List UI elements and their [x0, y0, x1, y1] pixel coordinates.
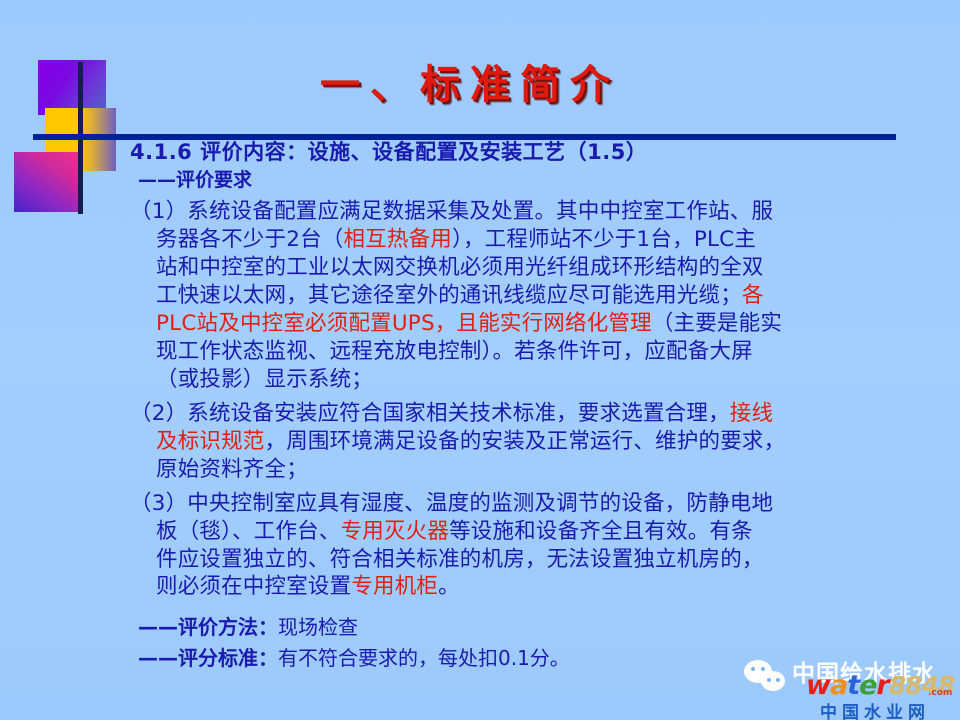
wechat-dot-1: [751, 667, 755, 671]
item1-line4-a: 工快速以太网，其它途径室外的通讯线缆应尽可能选用光缆；: [156, 283, 742, 308]
scoring-standard-value: 有不符合要求的，每处扣0.1分。: [278, 646, 570, 670]
watermark-letter-r: r: [876, 670, 888, 701]
decorative-square-magenta: [14, 152, 82, 212]
item2-line2-b: ，周围环境满足设备的安装及正常运行、维护的要求，: [265, 429, 786, 454]
list-item: （1）系统设备配置应满足数据采集及处置。其中中控室工作站、服 务器各不少于2台（…: [130, 198, 930, 394]
item3-line3: 件应设置独立的、符合相关标准的机房，无法设置独立机房的，: [130, 546, 930, 574]
evaluation-method-label: ——评价方法：: [138, 615, 278, 639]
item1-line1-text: （1）系统设备配置应满足数据采集及处置。其中中控室工作站、服: [130, 199, 773, 224]
item1-line5-highlight: PLC站及中控室必须配置UPS，且能实行网络化管理: [156, 311, 652, 336]
list-item: （3）中央控制室应具有湿度、温度的监测及调节的设备，防静电地 板（毯）、工作台、…: [130, 490, 930, 602]
item1-line6: 现工作状态监视、远程充放电控制）。若条件许可，应配备大屏: [130, 338, 930, 366]
evaluation-method-value: 现场检查: [278, 615, 358, 639]
item3-line2-a: 板（毯）、工作台、: [156, 519, 341, 544]
slide-canvas: 一、标准简介 4.1.6 评价内容：设施、设备配置及安装工艺（1.5） ——评价…: [0, 0, 960, 720]
item3-line4-highlight: 专用机柜: [351, 574, 438, 599]
watermark-letter-t: t: [847, 670, 859, 701]
watermark-letter-a: a: [830, 670, 847, 701]
item1-line2-highlight: 相互热备用: [343, 227, 452, 252]
item2-line1-a: （2）系统设备安装应符合国家相关技术标准，要求选置合理，: [130, 401, 730, 426]
item3-line2-highlight: 专用灭火器: [341, 519, 450, 544]
item1-line7-text: （或投影）显示系统；: [156, 367, 373, 392]
item1-line4: 工快速以太网，其它途径室外的通讯线缆应尽可能选用光缆；各: [130, 282, 930, 310]
item2-line2-highlight: 及标识规范: [156, 429, 265, 454]
item2-line1-highlight: 接线: [730, 401, 773, 426]
item1-line3: 站和中控室的工业以太网交换机必须用光纤组成环形结构的全双: [130, 254, 930, 282]
item1-line5-b: （主要是能实: [652, 311, 782, 336]
item1-line2-a: 务器各不少于2台（: [156, 227, 343, 252]
item3-line2: 板（毯）、工作台、专用灭火器等设施和设备齐全且有效。有条: [130, 518, 930, 546]
item3-line2-b: 等设施和设备齐全且有效。有条: [449, 519, 753, 544]
list-item: （2）系统设备安装应符合国家相关技术标准，要求选置合理，接线 及标识规范，周围环…: [130, 400, 930, 484]
wechat-dot-2: [761, 667, 765, 671]
watermark-letter-e: e: [859, 670, 876, 701]
scoring-standard-label: ——评分标准：: [138, 646, 278, 670]
item3-line4-b: 。: [438, 574, 460, 599]
item3-line1-text: （3）中央控制室应具有湿度、温度的监测及调节的设备，防静电地: [130, 491, 773, 516]
evaluation-method-line: ——评价方法：现场检查: [138, 612, 570, 643]
item1-line6-text: 现工作状态监视、远程充放电控制）。若条件许可，应配备大屏: [156, 339, 753, 364]
item3-line1: （3）中央控制室应具有湿度、温度的监测及调节的设备，防静电地: [130, 490, 930, 518]
watermark-tld: .com: [928, 688, 952, 698]
item1-line2: 务器各不少于2台（相互热备用），工程师站不少于1台，PLC主: [130, 226, 930, 254]
wechat-dot-3: [767, 678, 771, 682]
scoring-standard-line: ——评分标准：有不符合要求的，每处扣0.1分。: [138, 643, 570, 674]
item2-line1: （2）系统设备安装应符合国家相关技术标准，要求选置合理，接线: [130, 400, 930, 428]
page-title: 一、标准简介: [320, 52, 620, 110]
item2-line3-text: 原始资料齐全；: [156, 457, 308, 482]
item2-line3: 原始资料齐全；: [130, 456, 930, 484]
item1-line5: PLC站及中控室必须配置UPS，且能实行网络化管理（主要是能实: [130, 310, 930, 338]
section-subheading: ——评价要求: [138, 168, 930, 193]
wechat-bubble-small: [761, 671, 785, 691]
item3-line4-a: 则必须在中控室设置: [156, 574, 351, 599]
watermark-logo: 中国给水排水 water8848 .com 中国水业网: [742, 648, 960, 720]
wechat-icon: [744, 660, 792, 694]
wechat-dot-4: [776, 678, 780, 682]
item1-line3-text: 站和中控室的工业以太网交换机必须用光纤组成环形结构的全双: [156, 255, 764, 280]
item1-line1: （1）系统设备配置应满足数据采集及处置。其中中控室工作站、服: [130, 198, 930, 226]
item1-line2-b: ），工程师站不少于1台，PLC主: [452, 227, 756, 252]
item3-line4: 则必须在中控室设置专用机柜。: [130, 573, 930, 601]
decorative-square-purple: [38, 60, 106, 115]
section-heading: 4.1.6 评价内容：设施、设备配置及安装工艺（1.5）: [130, 140, 930, 166]
footer-block: ——评价方法：现场检查 ——评分标准：有不符合要求的，每处扣0.1分。: [138, 612, 570, 674]
item1-line4-highlight: 各: [742, 283, 764, 308]
item1-line7: （或投影）显示系统；: [130, 366, 930, 394]
slide-content: 4.1.6 评价内容：设施、设备配置及安装工艺（1.5） ——评价要求 （1）系…: [130, 140, 930, 601]
watermark-letter-w: w: [806, 670, 830, 701]
watermark-subbrand: 中国水业网: [820, 698, 930, 720]
item3-line3-text: 件应设置独立的、符合相关标准的机房，无法设置独立机房的，: [156, 547, 764, 572]
item2-line2: 及标识规范，周围环境满足设备的安装及正常运行、维护的要求，: [130, 428, 930, 456]
